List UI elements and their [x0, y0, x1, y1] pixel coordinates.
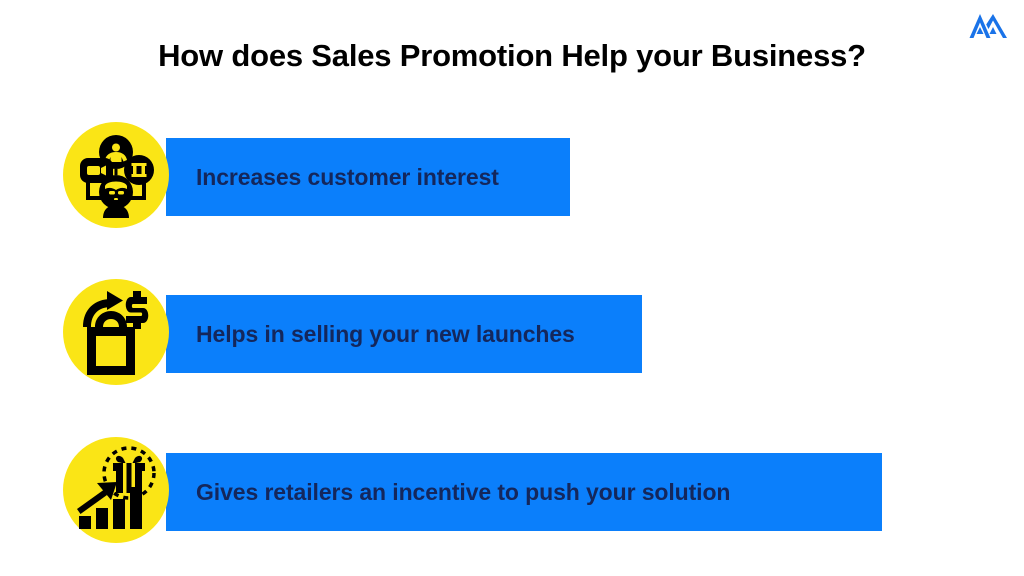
benefit-label: Helps in selling your new launches [196, 295, 575, 373]
customer-engagement-icon [63, 122, 169, 228]
benefit-label: Gives retailers an incentive to push you… [196, 453, 730, 531]
benefit-label: Increases customer interest [196, 138, 499, 216]
gift-bar-chart-growth-icon [63, 437, 169, 543]
slide-canvas: How does Sales Promotion Help your Busin… [0, 0, 1024, 576]
shopping-bag-growth-dollar-icon [63, 279, 169, 385]
page-title: How does Sales Promotion Help your Busin… [0, 36, 1024, 76]
